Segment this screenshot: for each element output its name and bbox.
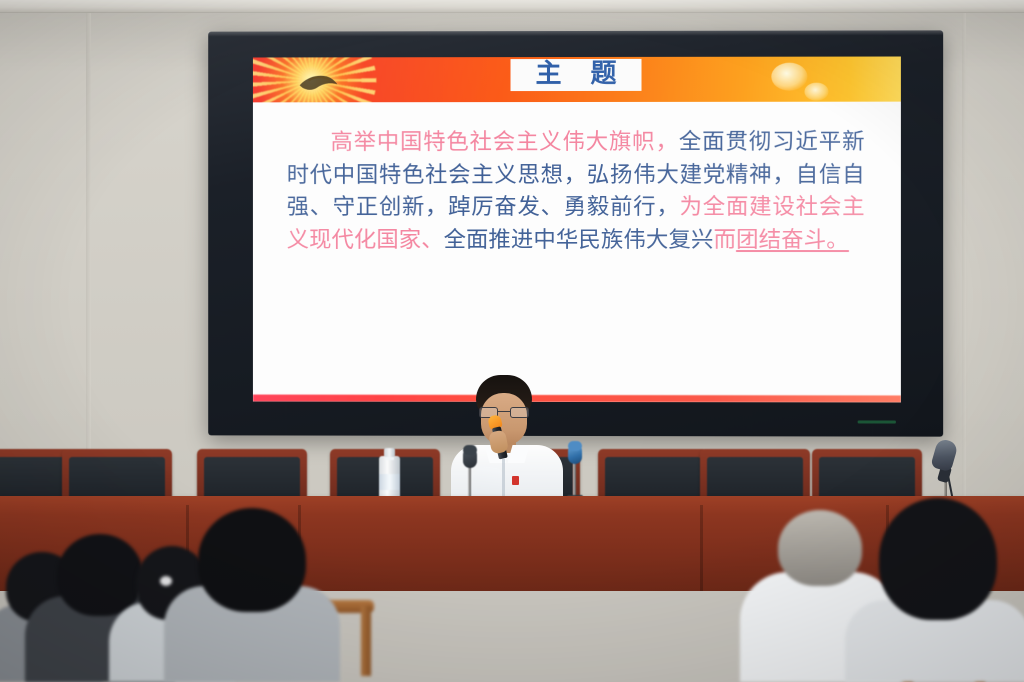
slide-text-segment-6: 团结奋斗。 (736, 227, 849, 253)
slide-text-segment-4: 全面推进中华民族伟大复兴 (444, 227, 714, 253)
screen-frame: 主 题 高举中国特色社会主义伟大旗帜，全面贯彻习近平新时代中国特色社会主义思想，… (208, 30, 943, 436)
frame-highlight (208, 30, 943, 36)
bokeh-circle-small (804, 83, 828, 101)
audience-member (172, 506, 332, 682)
slide-title-box: 主 题 (511, 59, 642, 91)
green-status-led-icon (858, 420, 896, 423)
wall-seam-left (86, 13, 91, 513)
audience-member (850, 492, 1024, 682)
dove-icon (297, 71, 339, 93)
slide-text-segment-1: 高举中国特色社会主义伟大旗帜， (331, 129, 679, 155)
slide-banner: 主 题 (253, 56, 901, 102)
wall-seam-right (962, 13, 966, 513)
slide-body: 高举中国特色社会主义伟大旗帜，全面贯彻习近平新时代中国特色社会主义思想，弘扬伟大… (253, 102, 901, 385)
slide-title: 主 题 (525, 59, 626, 89)
ceiling-molding (0, 0, 1024, 13)
slide-paragraph: 高举中国特色社会主义伟大旗帜，全面贯彻习近平新时代中国特色社会主义思想，弘扬伟大… (287, 126, 865, 257)
audience-area (0, 470, 1024, 682)
presentation-slide: 主 题 高举中国特色社会主义伟大旗帜，全面贯彻习近平新时代中国特色社会主义思想，… (253, 56, 901, 402)
conference-room-scene: 主 题 高举中国特色社会主义伟大旗帜，全面贯彻习近平新时代中国特色社会主义思想，… (0, 0, 1024, 682)
slide-text-segment-5: 而 (713, 227, 736, 253)
bokeh-circle-large (771, 63, 807, 91)
projector-screen: 主 题 高举中国特色社会主义伟大旗帜，全面贯彻习近平新时代中国特色社会主义思想，… (207, 31, 942, 436)
slide-footer-band (253, 395, 901, 403)
